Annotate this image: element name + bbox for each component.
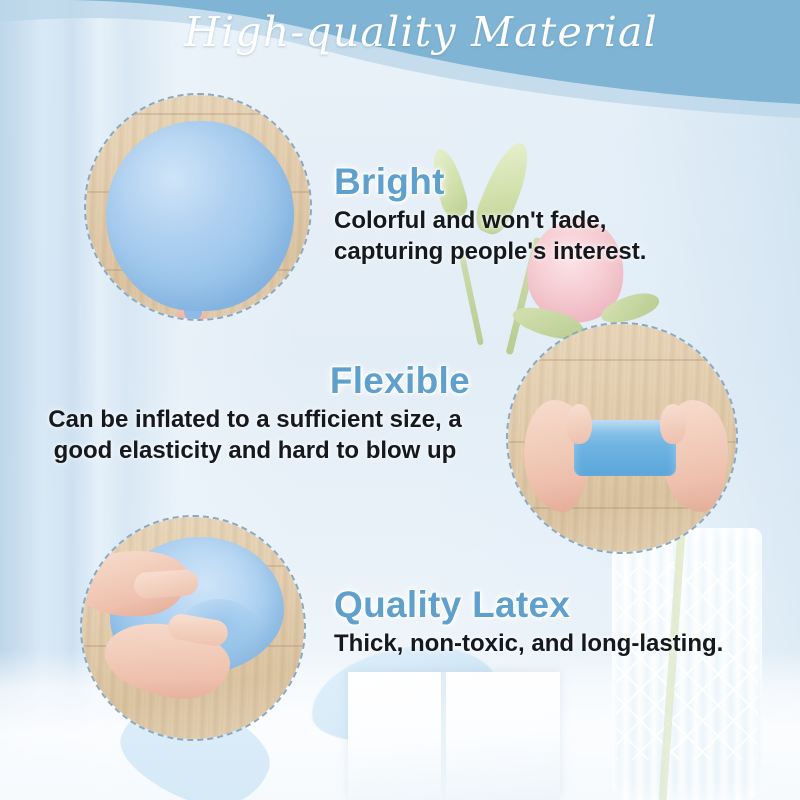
photo-inner: [82, 517, 304, 739]
feature-photo-bright: [84, 93, 312, 321]
feature-body-quality-latex: Thick, non-toxic, and long-lasting.: [334, 628, 764, 659]
gift-box-icon: [348, 672, 560, 800]
feature-body-line: Colorful and won't fade,: [334, 205, 734, 236]
page-title: High-quality Material: [0, 8, 800, 56]
photo-inner: [508, 324, 736, 552]
feature-body-line: capturing people's interest.: [334, 236, 734, 267]
feature-body-flexible: Can be inflated to a sufficient size, a …: [40, 404, 470, 466]
feature-text-bright: Bright Colorful and won't fade, capturin…: [334, 163, 734, 267]
feature-body-line: Thick, non-toxic, and long-lasting.: [334, 628, 764, 659]
product-infographic: High-quality Material: [0, 0, 800, 800]
feature-heading-quality-latex: Quality Latex: [334, 586, 764, 625]
inflated-balloon-icon: [106, 121, 294, 311]
feature-text-flexible: Flexible Can be inflated to a sufficient…: [40, 362, 470, 466]
feature-body-line: Can be inflated to a sufficient size, a: [40, 404, 470, 435]
feature-photo-quality-latex: [80, 515, 306, 741]
feature-heading-bright: Bright: [334, 163, 734, 202]
thumb-icon: [660, 404, 686, 444]
feature-body-line: good elasticity and hard to blow up: [40, 435, 470, 466]
thumb-icon: [566, 404, 592, 444]
feature-text-quality-latex: Quality Latex Thick, non-toxic, and long…: [334, 586, 764, 659]
finger-icon: [133, 569, 199, 599]
feature-heading-flexible: Flexible: [40, 362, 470, 401]
photo-inner: [86, 95, 310, 319]
feature-photo-flexible: [506, 322, 738, 554]
feature-body-bright: Colorful and won't fade, capturing peopl…: [334, 205, 734, 267]
crystal-vase-icon: [612, 528, 762, 800]
